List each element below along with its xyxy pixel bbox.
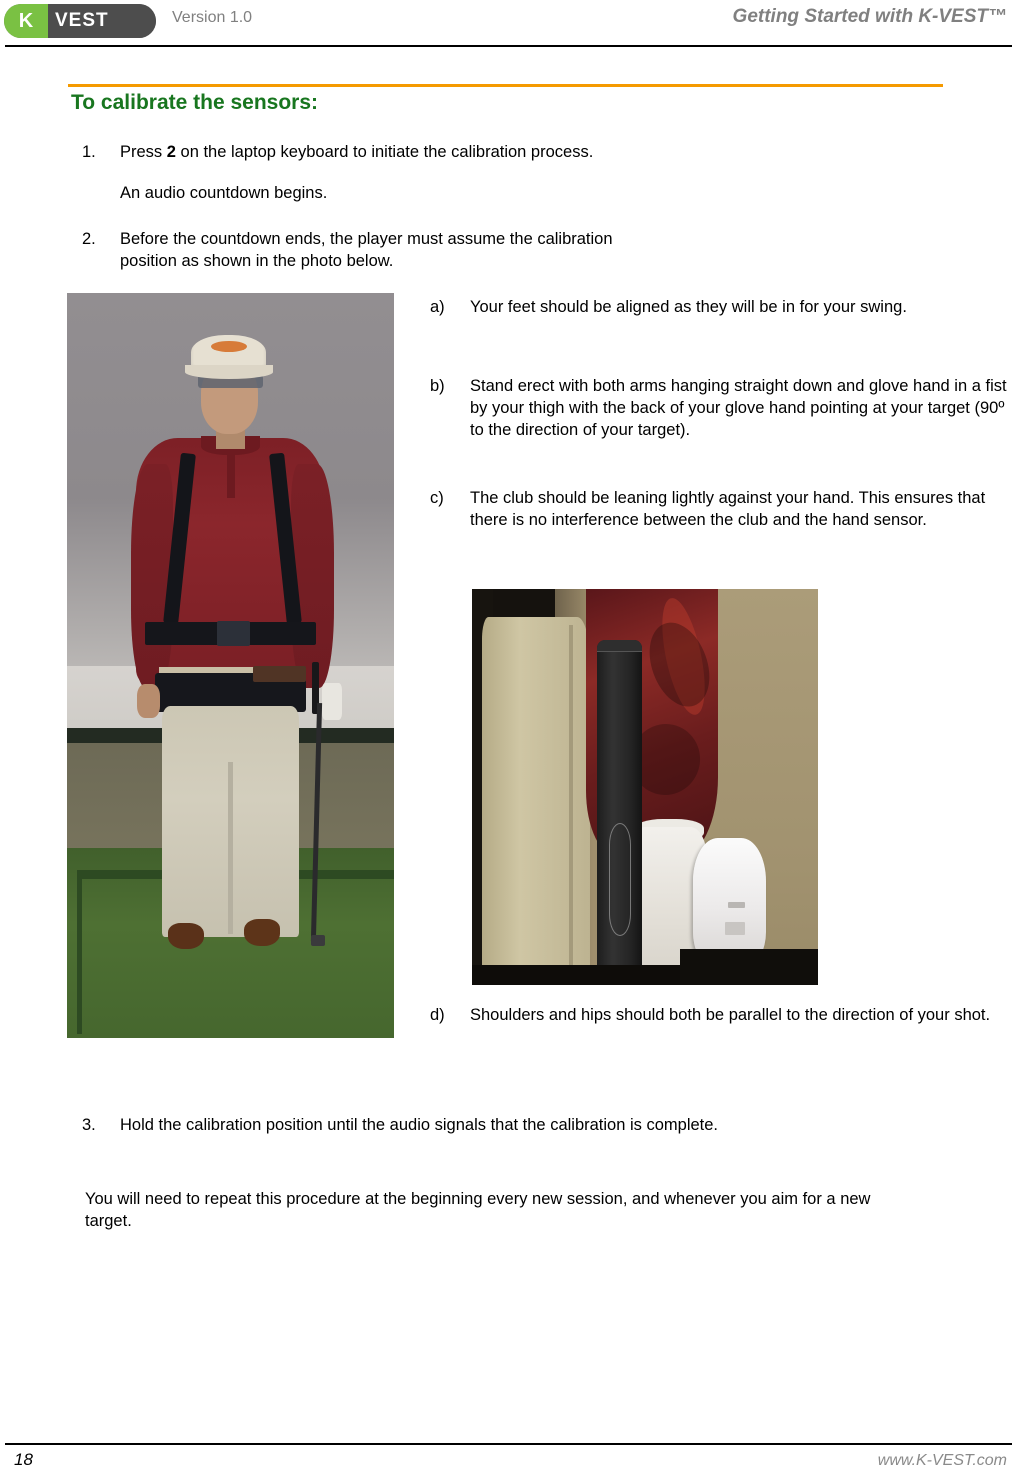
- page-number: 18: [14, 1450, 33, 1470]
- list-item-text: Your feet should be aligned as they will…: [470, 296, 1012, 318]
- photo-cap-brim: [185, 365, 273, 379]
- photo-pant-seam: [569, 625, 573, 973]
- club-grip-sensor-photo: [472, 589, 818, 985]
- footer-website-url: www.K-VEST.com: [878, 1452, 1007, 1470]
- kvest-logo: K VEST: [4, 4, 156, 38]
- header-divider: [5, 45, 1012, 47]
- footer-divider: [5, 1443, 1012, 1445]
- logo-k-mark: K: [4, 4, 48, 38]
- ordered-list-item-2: 2. Before the countdown ends, the player…: [82, 228, 672, 272]
- list-item-text: Shoulders and hips should both be parall…: [470, 1004, 1012, 1026]
- list-marker: b): [430, 375, 470, 441]
- list-item-text: Before the countdown ends, the player mu…: [120, 228, 672, 272]
- list-marker: 3.: [82, 1114, 120, 1136]
- photo-club-grip-cap: [597, 640, 642, 651]
- list-item-text: Stand erect with both arms hanging strai…: [470, 375, 1012, 441]
- step1-prefix: Press: [120, 143, 167, 161]
- photo-hand-left: [137, 684, 160, 718]
- list-marker: 2.: [82, 228, 120, 272]
- list-marker: a): [430, 296, 470, 318]
- list-item-text: Press 2 on the laptop keyboard to initia…: [120, 141, 902, 163]
- photo-grip-diamond-marking: [609, 823, 632, 936]
- step1-key-bold: 2: [167, 143, 176, 161]
- page-header: K VEST Version 1.0 Getting Started with …: [0, 0, 1017, 44]
- photo-glove-hand: [322, 683, 342, 720]
- step1-suffix: on the laptop keyboard to initiate the c…: [176, 143, 593, 161]
- step1-note: An audio countdown begins.: [120, 182, 820, 204]
- golfer-calibration-photo: [67, 293, 394, 1038]
- lettered-list-item-b: b) Stand erect with both arms hanging st…: [430, 375, 1012, 441]
- photo-pant-leg: [482, 617, 589, 985]
- photo-dark-bottom-right: [680, 949, 818, 985]
- logo-vest-wordmark: VEST: [48, 4, 156, 38]
- ordered-list-item-1: 1. Press 2 on the laptop keyboard to ini…: [82, 141, 902, 163]
- photo-sensor-slot: [728, 902, 745, 908]
- photo-sensor-label: [725, 922, 746, 936]
- photo-leather-belt: [253, 666, 305, 682]
- photo-shirt-placket: [227, 453, 235, 498]
- photo-shoe-left: [168, 923, 204, 950]
- photo-arm-right: [291, 464, 334, 688]
- list-item-text: The club should be leaning lightly again…: [470, 487, 1012, 531]
- photo-shoe-right: [244, 919, 280, 946]
- photo-turf-edge-left: [77, 870, 82, 1034]
- page-title: Getting Started with K-VEST™: [733, 6, 1007, 28]
- list-item-text: Hold the calibration position until the …: [120, 1114, 882, 1136]
- photo-torso-sensor-buckle: [217, 621, 250, 646]
- closing-paragraph: You will need to repeat this procedure a…: [85, 1188, 915, 1232]
- photo-pants-inseam: [228, 762, 233, 933]
- list-marker: c): [430, 487, 470, 531]
- photo-arm-left: [131, 464, 174, 688]
- section-heading: To calibrate the sensors:: [71, 91, 318, 115]
- ordered-list-item-3: 3. Hold the calibration position until t…: [82, 1114, 882, 1136]
- list-marker: d): [430, 1004, 470, 1026]
- photo-cap-logo: [211, 341, 247, 352]
- photo-club-head: [311, 935, 326, 946]
- lettered-list-item-d: d) Shoulders and hips should both be par…: [430, 1004, 1012, 1026]
- list-marker: 1.: [82, 141, 120, 163]
- version-label: Version 1.0: [172, 9, 252, 27]
- lettered-list-item-c: c) The club should be leaning lightly ag…: [430, 487, 1012, 531]
- section-accent-rule: [68, 84, 943, 87]
- lettered-list-item-a: a) Your feet should be aligned as they w…: [430, 296, 1012, 318]
